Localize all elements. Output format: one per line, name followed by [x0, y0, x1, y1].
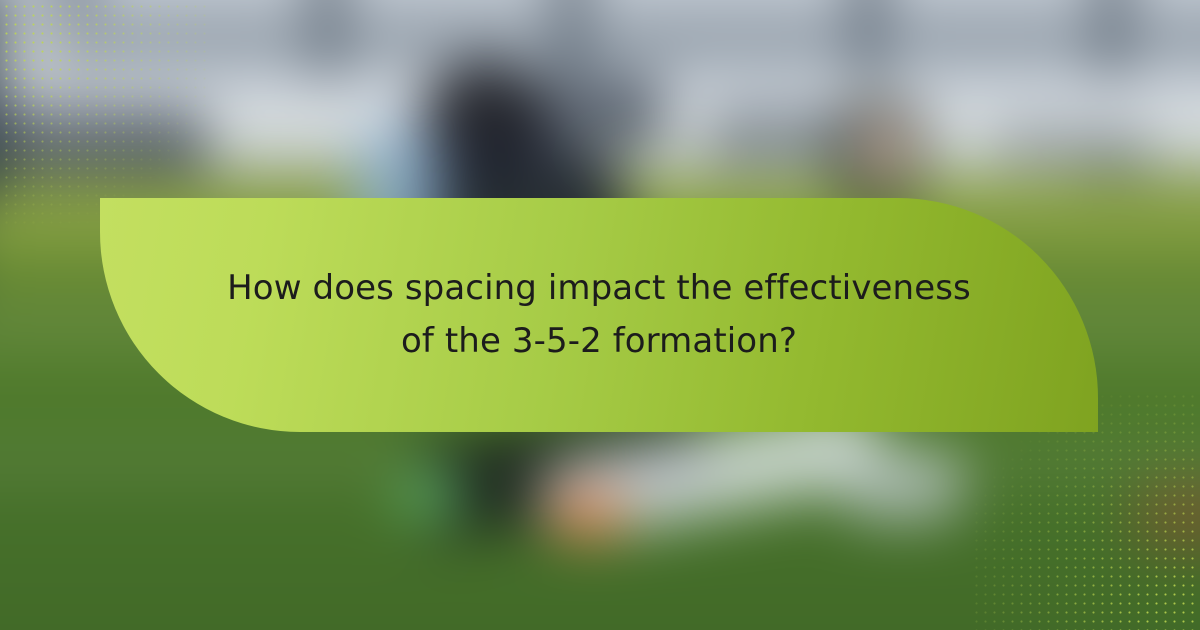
- headline-line-2: of the 3-5-2 formation?: [100, 315, 1098, 368]
- player-head: [854, 114, 915, 188]
- social-card: How does spacing impact the effectivenes…: [0, 0, 1200, 630]
- boot: [549, 490, 625, 539]
- boot: [396, 469, 462, 520]
- dot-grid-pattern-top-left: [0, 0, 210, 230]
- headline-line-1: How does spacing impact the effectivenes…: [100, 262, 1098, 315]
- headline-banner: How does spacing impact the effectivenes…: [100, 198, 1098, 432]
- boot: [839, 448, 966, 522]
